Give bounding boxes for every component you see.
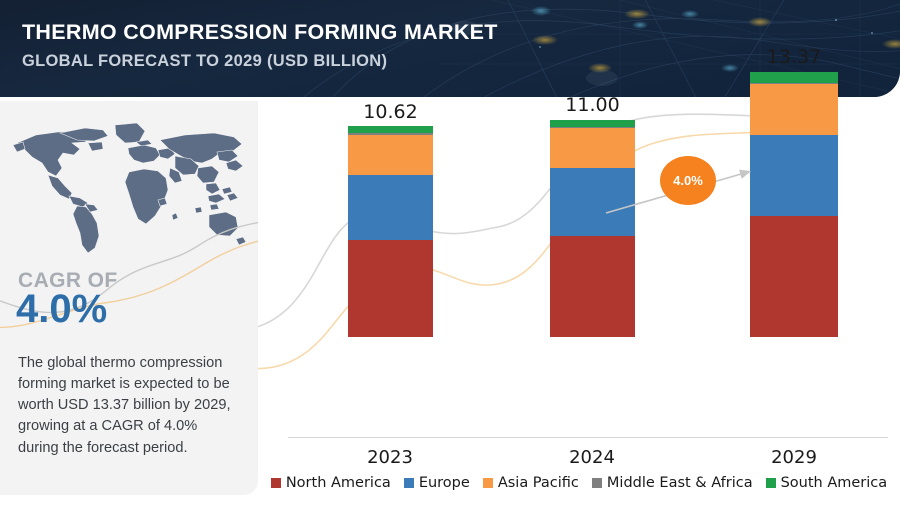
- bar-total-label-2023: 10.62: [321, 101, 461, 123]
- header-text-block: THERMO COMPRESSION FORMING MARKET GLOBAL…: [22, 20, 498, 72]
- legend-swatch-icon: [483, 478, 493, 488]
- segment-north-america[interactable]: [550, 236, 635, 337]
- x-tick-2029: 2029: [714, 447, 874, 468]
- segment-north-america[interactable]: [348, 240, 433, 337]
- bar-group-2023[interactable]: 10.62: [348, 128, 433, 337]
- segment-south-america[interactable]: [348, 126, 433, 133]
- legend-label: North America: [286, 475, 391, 491]
- segment-europe[interactable]: [550, 168, 635, 236]
- legend-swatch-icon: [271, 478, 281, 488]
- sidebar-card: CAGR OF 4.0% The global thermo compressi…: [0, 101, 258, 495]
- segment-asia-pacific[interactable]: [550, 128, 635, 168]
- segment-middle-east-africa[interactable]: [750, 83, 838, 84]
- legend-swatch-icon: [766, 478, 776, 488]
- x-axis-line: [288, 437, 888, 438]
- cagr-badge-label: 4.0%: [673, 173, 703, 188]
- legend-item-south-america[interactable]: South America: [766, 475, 888, 491]
- legend-swatch-icon: [404, 478, 414, 488]
- legend-label: South America: [781, 475, 888, 491]
- cagr-badge[interactable]: 4.0%: [660, 156, 716, 205]
- legend-item-north-america[interactable]: North America: [271, 475, 391, 491]
- page-title: THERMO COMPRESSION FORMING MARKET: [22, 20, 498, 46]
- segment-south-america[interactable]: [550, 120, 635, 127]
- segment-middle-east-africa[interactable]: [550, 127, 635, 128]
- bar-group-2024[interactable]: 11.00: [550, 120, 635, 337]
- legend-label: Middle East & Africa: [607, 475, 753, 491]
- segment-middle-east-africa[interactable]: [348, 133, 433, 135]
- page-subtitle: GLOBAL FORECAST TO 2029 (USD BILLION): [22, 52, 498, 72]
- bar-total-label-2024: 11.00: [523, 94, 663, 116]
- segment-north-america[interactable]: [750, 216, 838, 337]
- segment-south-america[interactable]: [750, 72, 838, 83]
- bar-group-2029[interactable]: 13.37: [750, 72, 838, 337]
- legend-item-middle-east-africa[interactable]: Middle East & Africa: [592, 475, 753, 491]
- legend-item-europe[interactable]: Europe: [404, 475, 470, 491]
- segment-europe[interactable]: [750, 135, 838, 216]
- segment-europe[interactable]: [348, 175, 433, 240]
- chart-legend: North America Europe Asia Pacific Middle…: [258, 470, 900, 496]
- legend-item-asia-pacific[interactable]: Asia Pacific: [483, 475, 579, 491]
- segment-asia-pacific[interactable]: [750, 84, 838, 135]
- chart-area: 10.62 11.00 13.37 2023 2024 2029: [258, 101, 900, 507]
- x-tick-2024: 2024: [512, 447, 672, 468]
- bar-total-label-2029: 13.37: [724, 46, 864, 68]
- legend-label: Europe: [419, 475, 470, 491]
- x-tick-2023: 2023: [310, 447, 470, 468]
- segment-asia-pacific[interactable]: [348, 135, 433, 175]
- sidebar-description: The global thermo compression forming ma…: [18, 353, 240, 459]
- cagr-value: 4.0%: [16, 287, 107, 332]
- legend-swatch-icon: [592, 478, 602, 488]
- legend-label: Asia Pacific: [498, 475, 579, 491]
